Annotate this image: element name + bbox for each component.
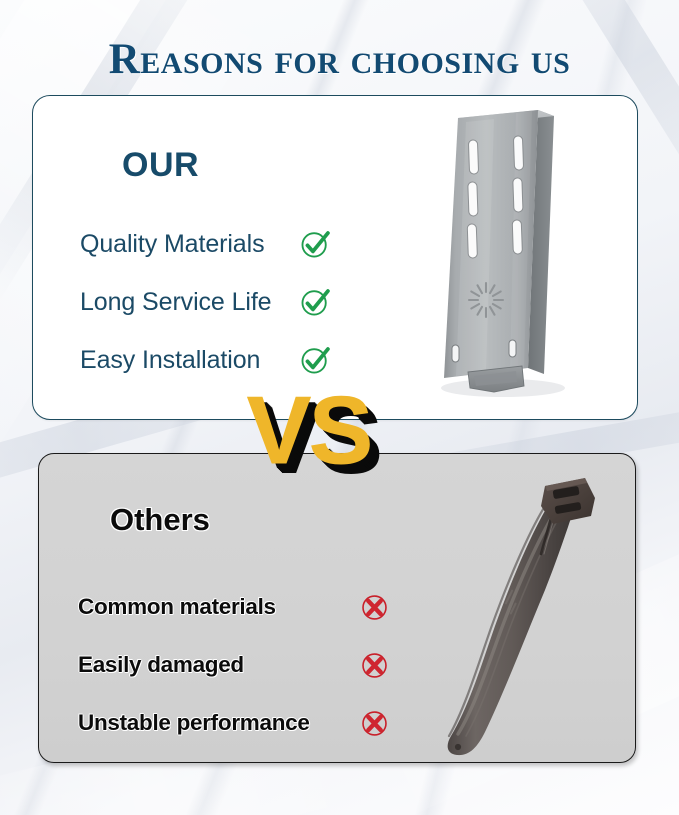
list-item: Easily damaged [78,636,388,694]
feature-label: Long Service Life [80,288,271,317]
feature-label: Easily damaged [78,652,244,678]
comparison-infographic: Reasons for choosing us OUR Quality Mate… [0,0,679,815]
our-feature-list: Quality Materials Long Service Life Easy… [80,215,330,389]
feature-label: Common materials [78,594,276,620]
cross-circle-icon [361,652,388,679]
check-circle-icon [300,229,330,259]
list-item: Unstable performance [78,694,388,752]
others-product-image [425,468,620,763]
feature-label: Quality Materials [80,230,264,259]
vs-label: VS [247,383,371,479]
page-title: Reasons for choosing us [0,38,679,81]
list-item: Quality Materials [80,215,330,273]
cross-circle-icon [361,594,388,621]
our-product-image [398,100,608,400]
our-card-heading: OUR [122,148,199,182]
feature-label: Unstable performance [78,710,310,736]
feature-label: Easy Installation [80,346,260,375]
list-item: Common materials [78,578,388,636]
check-circle-icon [300,345,330,375]
others-card-heading: Others [110,504,210,535]
cross-circle-icon [361,710,388,737]
check-circle-icon [300,287,330,317]
others-feature-list: Common materials Easily damaged Unstable… [78,578,388,752]
list-item: Long Service Life [80,273,330,331]
